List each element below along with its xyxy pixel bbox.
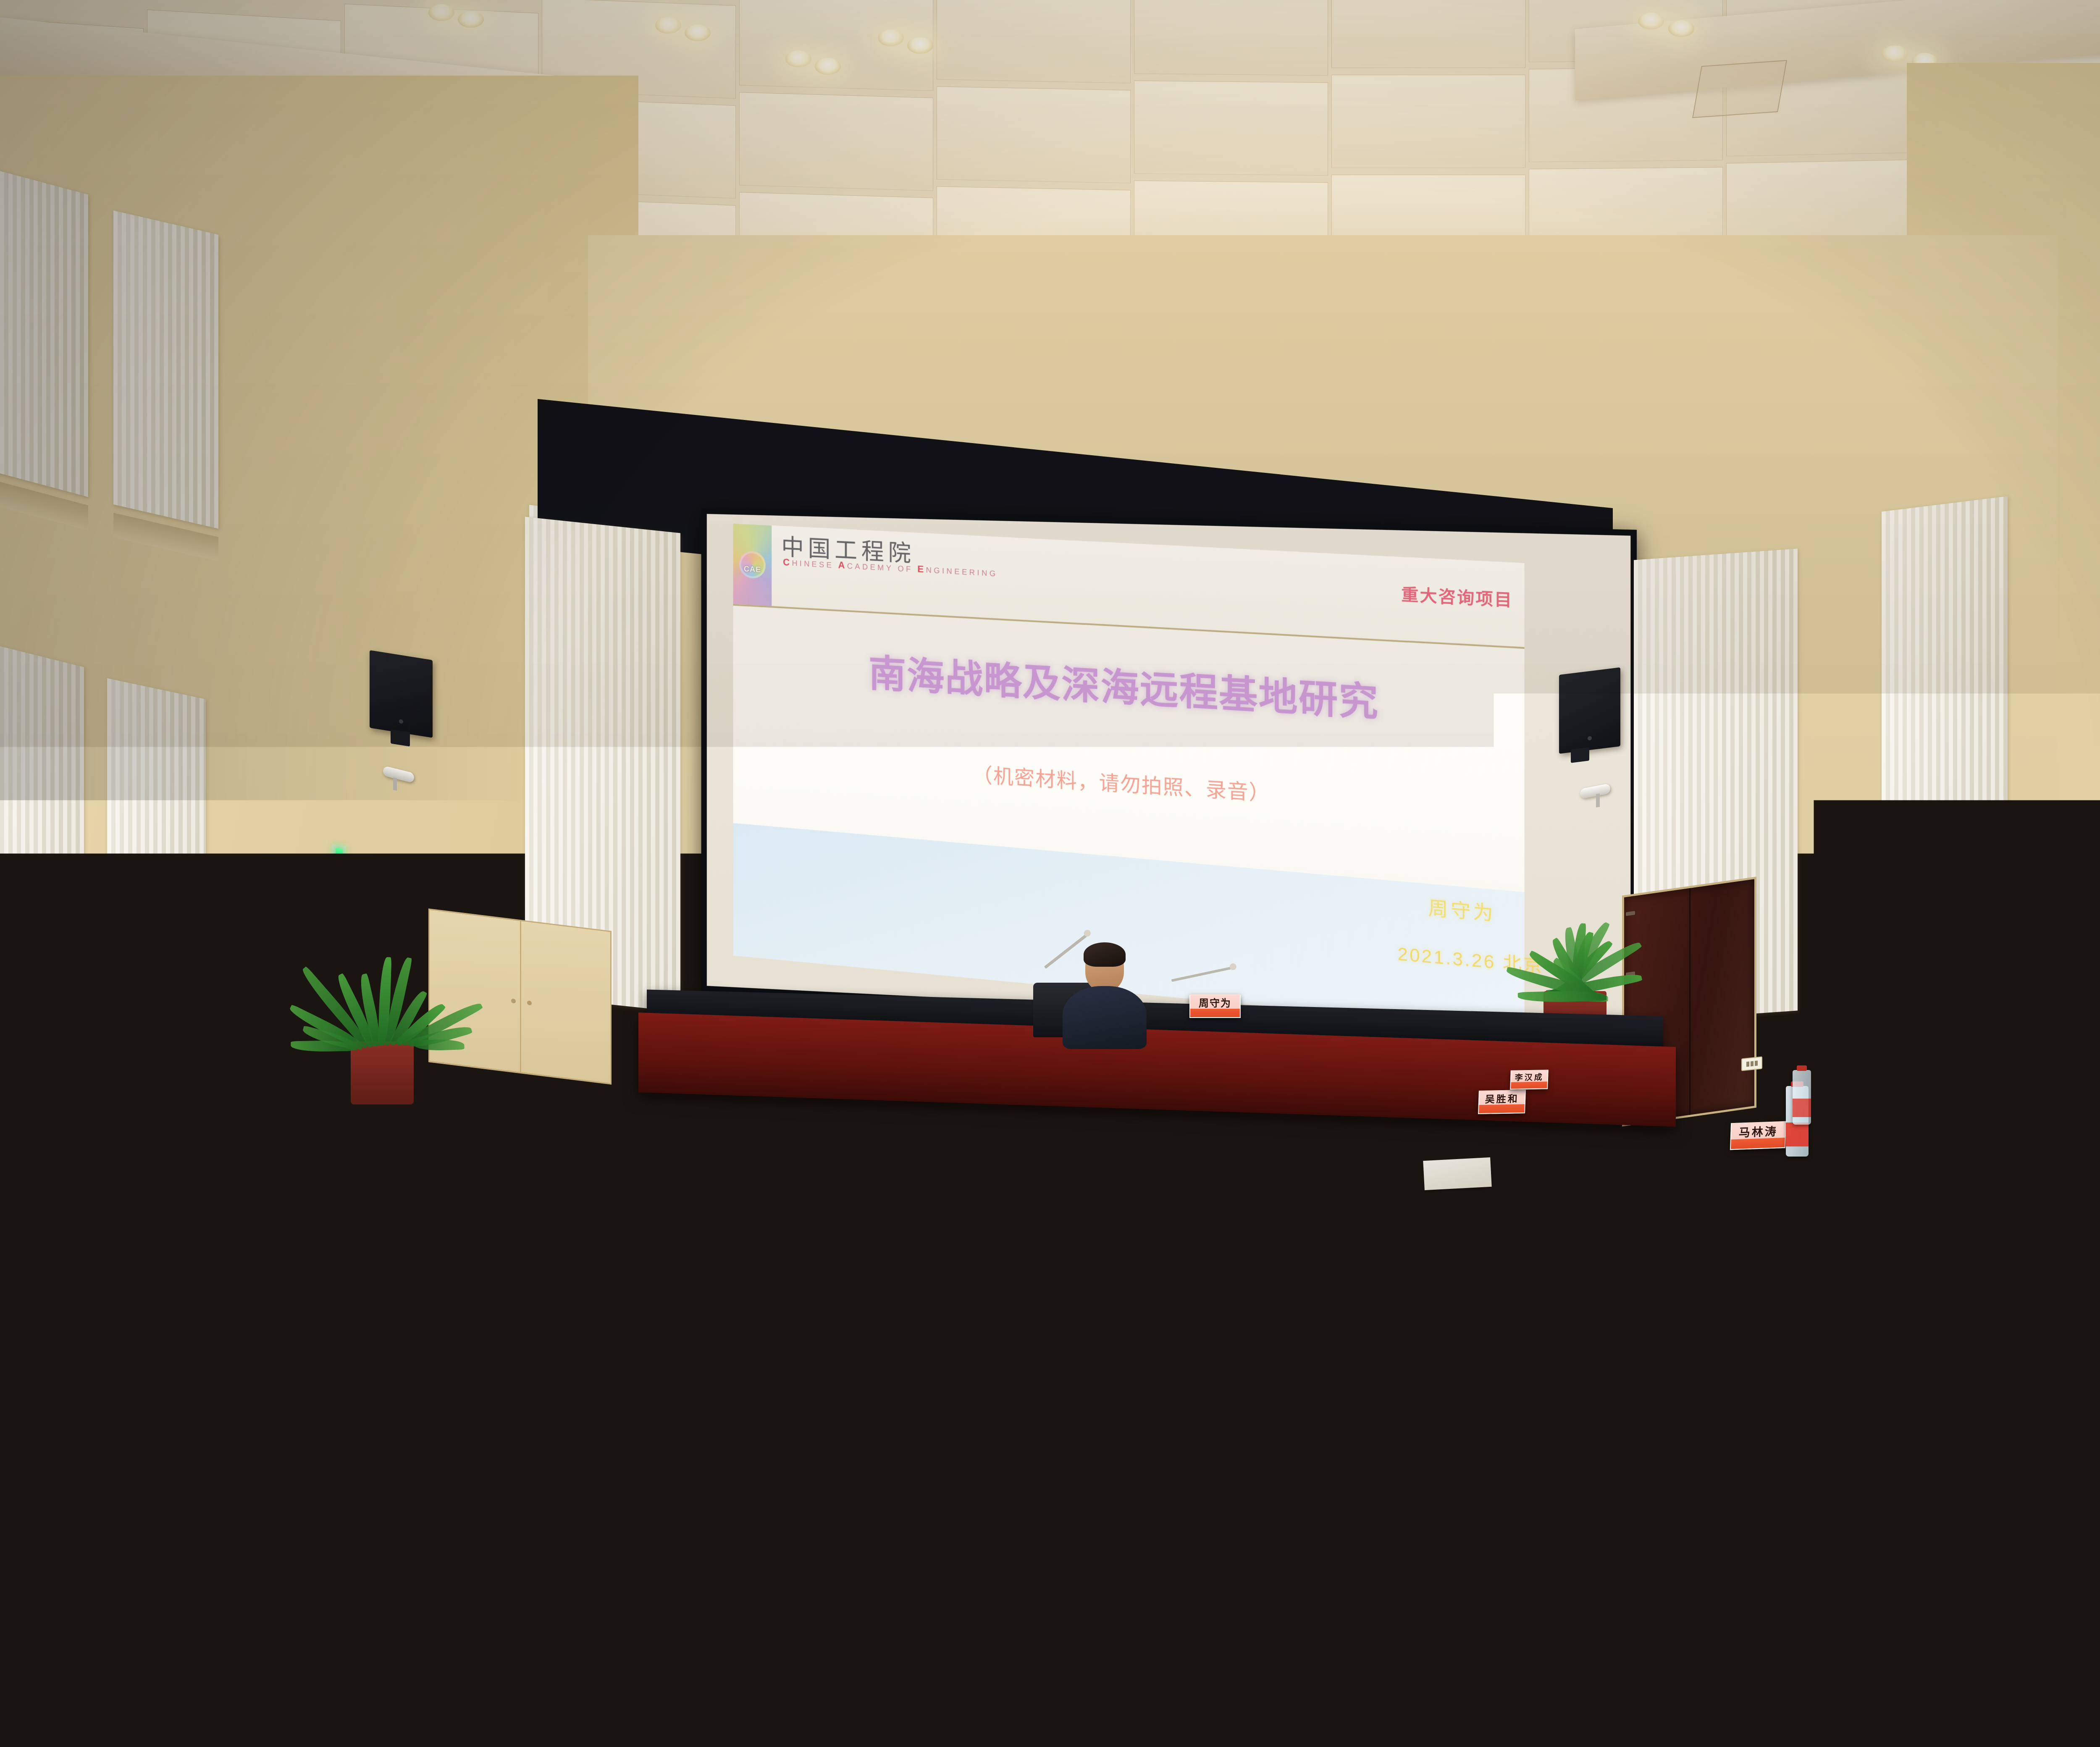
conference-hall-photo: CAE 中国工程院 CHINESE ACADEMY OF ENGINEERING… bbox=[0, 0, 2100, 1747]
audience-hair bbox=[436, 1264, 496, 1313]
audience-hair bbox=[680, 1128, 716, 1157]
audience-hair bbox=[640, 1087, 671, 1112]
audience-hair bbox=[940, 1049, 962, 1067]
audience-hair bbox=[1701, 1186, 1747, 1223]
ceiling-panel bbox=[739, 92, 933, 191]
audience-hair bbox=[1349, 1081, 1381, 1107]
recessed-downlight bbox=[458, 11, 484, 28]
ceiling-panel bbox=[937, 87, 1131, 184]
recessed-downlight bbox=[685, 24, 711, 41]
audience-hair bbox=[880, 1048, 905, 1068]
audience-hair bbox=[1626, 1260, 1686, 1309]
audience-torso bbox=[1431, 1474, 1635, 1699]
wall-outlet-right[interactable] bbox=[1741, 1056, 1762, 1071]
card-zhang-yu: 张玉 bbox=[0, 1209, 87, 1263]
speaker-at-podium bbox=[1063, 946, 1147, 1042]
audience-hair bbox=[1097, 1182, 1147, 1222]
audience-hair bbox=[1397, 1185, 1448, 1227]
card-lan-wen: 兰文 bbox=[1824, 1093, 1867, 1120]
audience-hair bbox=[1250, 1183, 1294, 1220]
security-camera-arm-right bbox=[1596, 794, 1600, 808]
ceiling-panel bbox=[739, 0, 933, 91]
acoustic-panel-l3 bbox=[0, 643, 84, 961]
audience-hair bbox=[955, 1088, 986, 1113]
wall-speaker-left bbox=[370, 650, 433, 738]
audience-hair bbox=[1349, 1048, 1370, 1065]
audience-hair bbox=[795, 1180, 846, 1222]
audience-hair bbox=[1523, 1049, 1546, 1067]
audience-torso bbox=[975, 1459, 1168, 1671]
audience-member bbox=[522, 1372, 696, 1646]
audience-hair bbox=[1861, 1257, 1928, 1312]
audience-hair bbox=[103, 1368, 191, 1439]
recessed-downlight bbox=[785, 50, 811, 67]
ceiling-panel bbox=[1331, 75, 1525, 168]
audience-torso bbox=[522, 1447, 696, 1639]
audience-hair bbox=[1172, 1050, 1196, 1069]
audience-hair bbox=[1866, 1128, 1907, 1160]
slide-project-label: 重大咨询项目 bbox=[1401, 581, 1513, 611]
cae-logo-icon: CAE bbox=[733, 524, 772, 606]
audience-member bbox=[399, 1264, 533, 1474]
recessed-downlight bbox=[815, 58, 841, 75]
audience-hair bbox=[1114, 1052, 1138, 1070]
speaker-bracket-left bbox=[391, 729, 410, 746]
audience-hair bbox=[672, 1268, 736, 1320]
audience-hair bbox=[765, 1049, 787, 1067]
wall-cabinet-left[interactable] bbox=[428, 908, 612, 1085]
water-bottle-b[interactable] bbox=[1793, 1070, 1811, 1125]
audience-hair bbox=[648, 1052, 671, 1070]
projection-screen-frame: CAE 中国工程院 CHINESE ACADEMY OF ENGINEERING… bbox=[701, 508, 1637, 1039]
slide-author: 周守为 bbox=[1428, 893, 1496, 926]
audience-hair bbox=[1464, 1049, 1488, 1068]
audience-torso bbox=[399, 1322, 533, 1469]
acoustic-panel-l1 bbox=[0, 167, 88, 497]
speaker-hair bbox=[1084, 942, 1126, 967]
audience-hair bbox=[570, 1372, 648, 1436]
audience-hair bbox=[1434, 1127, 1474, 1159]
card-head-table: 周守为 bbox=[1189, 994, 1241, 1018]
recessed-downlight bbox=[878, 29, 904, 46]
cabinet-knob-a[interactable] bbox=[511, 999, 516, 1004]
ceiling-panel bbox=[1331, 0, 1525, 68]
audience-hair bbox=[823, 1048, 845, 1065]
potted-plant-left bbox=[319, 911, 445, 1104]
cabinet-divider-left bbox=[520, 921, 521, 1072]
speaker-torso bbox=[1063, 986, 1147, 1049]
audience-member bbox=[1431, 1385, 1635, 1706]
audience-hair bbox=[1551, 1178, 1596, 1215]
audience-hair bbox=[1035, 1080, 1064, 1104]
recessed-downlight bbox=[1882, 45, 1908, 62]
audience-member bbox=[975, 1376, 1168, 1678]
acoustic-panel-r0 bbox=[1882, 496, 2008, 881]
ceiling-panel bbox=[937, 0, 1131, 83]
audience-hair bbox=[1544, 1125, 1581, 1155]
audience-hair bbox=[1851, 1183, 1898, 1222]
exit-light-left bbox=[332, 844, 346, 866]
audience-torso bbox=[49, 1452, 245, 1668]
presentation-slide: CAE 中国工程院 CHINESE ACADEMY OF ENGINEERING… bbox=[707, 514, 1631, 1032]
recessed-downlight bbox=[1668, 20, 1694, 37]
recessed-downlight bbox=[907, 37, 933, 54]
ceiling-panel bbox=[1134, 81, 1328, 176]
speaker-bracket-right bbox=[1571, 747, 1589, 763]
recessed-downlight bbox=[428, 4, 454, 21]
audience-hair bbox=[1289, 1053, 1313, 1073]
audience-hair bbox=[570, 1125, 610, 1157]
ceiling-panel bbox=[1134, 0, 1328, 76]
audience-hair bbox=[719, 1079, 750, 1105]
audience-hair bbox=[1146, 1260, 1215, 1316]
audience-torso bbox=[1898, 1449, 2092, 1662]
ceiling-vent-a bbox=[1692, 60, 1787, 118]
audience-hair bbox=[910, 1263, 975, 1316]
audience-hair bbox=[1760, 1127, 1796, 1156]
recessed-downlight bbox=[655, 17, 681, 34]
audience-member bbox=[49, 1368, 245, 1675]
projection-screen: CAE 中国工程院 CHINESE ACADEMY OF ENGINEERING… bbox=[707, 514, 1631, 1032]
security-camera-arm-left bbox=[393, 777, 397, 790]
audience-hair bbox=[798, 1086, 829, 1111]
audience-hair bbox=[1193, 1081, 1221, 1104]
audience-hair bbox=[1744, 1085, 1772, 1108]
audience-hair bbox=[1270, 1084, 1301, 1109]
wall-speaker-right bbox=[1559, 667, 1620, 754]
acoustic-panel-l4 bbox=[107, 678, 206, 976]
audience-hair bbox=[1487, 1385, 1579, 1460]
audience-hair bbox=[787, 1129, 826, 1162]
audience-hair bbox=[1113, 1086, 1144, 1111]
audience-hair bbox=[1004, 1122, 1041, 1152]
audience-hair bbox=[1028, 1376, 1114, 1446]
audience-hair bbox=[1580, 1049, 1605, 1068]
audience-member bbox=[1898, 1367, 2092, 1669]
cae-logo-text: CAE bbox=[739, 564, 766, 575]
acoustic-panel-l2 bbox=[113, 210, 218, 529]
audience-hair bbox=[197, 1257, 260, 1308]
plant-pot bbox=[351, 1041, 414, 1104]
camera-lcd-screen bbox=[2038, 965, 2084, 994]
audience-hair bbox=[1664, 1080, 1695, 1105]
audience-hair bbox=[997, 1047, 1021, 1067]
audience-hair bbox=[1586, 1081, 1615, 1104]
cabinet-knob-b[interactable] bbox=[527, 1000, 532, 1005]
audience-hair bbox=[1407, 1052, 1428, 1069]
audience-hair bbox=[705, 1053, 730, 1073]
recessed-downlight bbox=[1638, 13, 1664, 29]
exit-light-glow bbox=[336, 848, 343, 863]
